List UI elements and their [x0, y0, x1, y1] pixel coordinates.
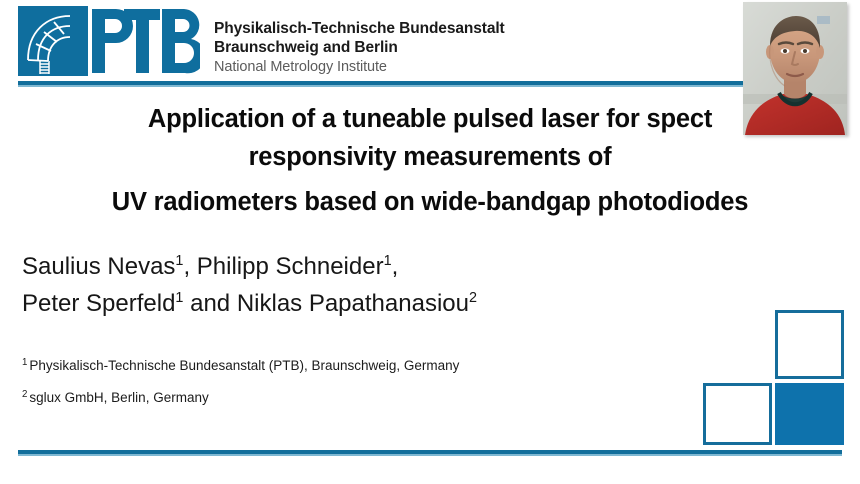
author-affiliation-marker: 2	[469, 290, 477, 306]
author-affiliation-marker: 1	[384, 253, 392, 269]
author-name-1: Saulius Nevas	[22, 253, 175, 280]
author-name-2: , Philipp Schneider	[183, 253, 383, 280]
title-line-1: Application of a tuneable pulsed laser f…	[0, 100, 860, 138]
author-name-4: and Niklas Papathanasiou	[183, 290, 469, 317]
ptb-organisation-text: Physikalisch-Technische Bundesanstalt Br…	[214, 6, 505, 77]
page-title: Application of a tuneable pulsed laser f…	[0, 100, 860, 221]
decorative-square-bottom-left	[703, 383, 772, 445]
author-list: Saulius Nevas1, Philipp Schneider1, Pete…	[22, 248, 477, 322]
decorative-square-bottom-right	[775, 383, 844, 445]
ptb-fan-logo-icon	[18, 6, 88, 76]
org-name-line-1: Physikalisch-Technische Bundesanstalt	[214, 20, 505, 39]
decorative-square-top-right	[775, 310, 844, 379]
affiliation-list: 1Physikalisch-Technische Bundesanstalt (…	[22, 350, 459, 414]
title-slide: Physikalisch-Technische Bundesanstalt Br…	[0, 0, 860, 484]
affiliation-text-1: Physikalisch-Technische Bundesanstalt (P…	[29, 358, 459, 373]
author-line-1: Saulius Nevas1, Philipp Schneider1,	[22, 248, 477, 285]
affiliation-item-1: 1Physikalisch-Technische Bundesanstalt (…	[22, 350, 459, 382]
author-name-3: Peter Sperfeld	[22, 290, 175, 317]
affiliation-item-2: 2sglux GmbH, Berlin, Germany	[22, 382, 459, 414]
title-line-2: responsivity measurements of	[0, 138, 860, 176]
title-line-3: UV radiometers based on wide-bandgap pho…	[0, 183, 860, 221]
author-line-2: Peter Sperfeld1 and Niklas Papathanasiou…	[22, 285, 477, 322]
ptb-wordmark	[90, 6, 200, 76]
org-subtitle-line: National Metrology Institute	[214, 58, 505, 77]
author-portrait-photo	[743, 2, 847, 135]
author-line-1-tail: ,	[392, 253, 399, 280]
header-divider-rule	[18, 81, 842, 85]
org-name-line-2: Braunschweig and Berlin	[214, 39, 505, 58]
footer-divider-rule	[18, 450, 842, 454]
affiliation-text-2: sglux GmbH, Berlin, Germany	[29, 390, 208, 405]
ptb-logo-block: Physikalisch-Technische Bundesanstalt Br…	[18, 6, 505, 77]
